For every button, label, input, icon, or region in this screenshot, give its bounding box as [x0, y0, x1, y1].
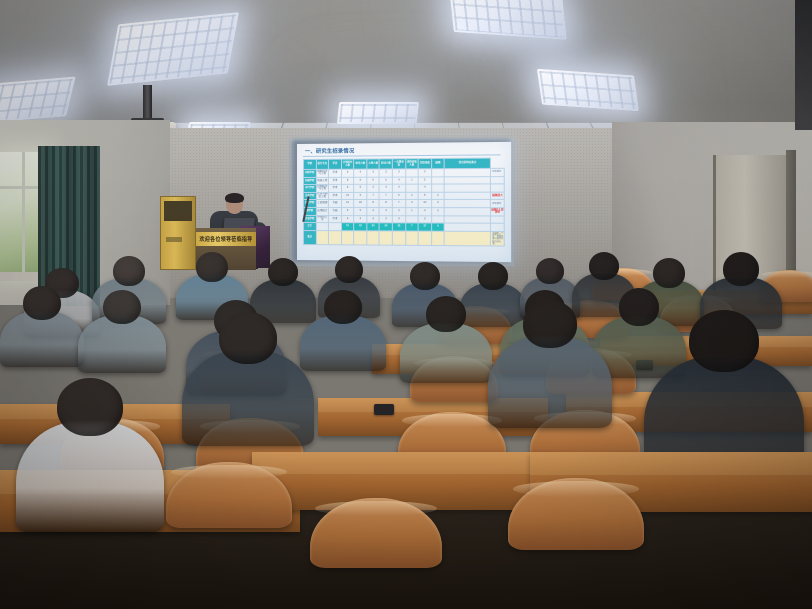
slide-cell — [431, 169, 444, 177]
slide-cell — [444, 184, 490, 192]
projection-screen: 一、研究生招录情况 学院招生专业学历计划招生人数报考人数上线人数复试人数一志愿录… — [297, 142, 511, 262]
audience-shoulders — [182, 350, 314, 446]
slide-cell: 学术 — [329, 169, 342, 177]
slide-cell: 1 — [405, 208, 418, 216]
slide-cell — [431, 215, 444, 223]
slide-table: 学院招生专业学历计划招生人数报考人数上线人数复试人数一志愿录取调剂录取人数实际录… — [303, 157, 505, 246]
classroom-photo: 一、研究生招录情况 学院招生专业学历计划招生人数报考人数上线人数复试人数一志愿录… — [0, 0, 812, 609]
slide-cell: 外国语言学 — [316, 215, 329, 223]
slide-cell: 3 — [380, 215, 393, 223]
slide-cell: 3 — [418, 215, 431, 223]
slide-row-note: 缺额较大 — [491, 192, 505, 200]
slide-row-note — [491, 216, 505, 224]
slide-cell: 2 — [431, 208, 444, 216]
audience-shoulders — [16, 421, 164, 533]
audience-member — [400, 296, 492, 392]
slide-content: 一、研究生招录情况 学院招生专业学历计划招生人数报考人数上线人数复试人数一志愿录… — [297, 142, 511, 262]
slide-cell: 3 — [405, 200, 418, 208]
slide-cell — [431, 231, 444, 246]
slide-cell: 1 — [405, 177, 418, 185]
audience-member — [488, 300, 612, 440]
audience-head — [113, 256, 145, 286]
slide-cell: 42 — [354, 223, 367, 231]
slide-cell — [329, 223, 342, 231]
slide-row-label: 备注 — [303, 230, 316, 244]
slide-cell: 34 — [380, 223, 393, 231]
slide-cell: 6 — [354, 177, 367, 185]
audience-head — [324, 290, 362, 324]
chair-front-3[interactable] — [508, 478, 644, 550]
cabinet-panel — [164, 201, 192, 221]
slide-cell: 4 — [418, 184, 431, 192]
slide-col-10: 缺额 — [431, 158, 444, 168]
audience-head — [196, 252, 228, 282]
slide-cell: 4 — [418, 208, 431, 216]
slide-cell: 5 — [354, 184, 367, 192]
slide-cell — [405, 231, 418, 245]
slide-table-row: 经管学院工商管理专硕12108873102招生情况 — [303, 200, 504, 208]
audience-head — [653, 258, 685, 288]
desk-surface — [530, 452, 812, 475]
audience-member — [182, 312, 314, 460]
slide-cell — [392, 231, 405, 245]
slide-cell: 应用统计 — [316, 207, 329, 215]
slide-cell — [341, 230, 354, 244]
slide-row-note — [491, 184, 505, 192]
chair-front-2[interactable] — [310, 498, 442, 568]
slide-row-note — [491, 223, 505, 231]
slide-cell — [444, 215, 490, 223]
slide-cell: 7 — [380, 192, 393, 200]
presenter-hair — [225, 193, 244, 203]
audience-head — [219, 312, 277, 364]
slide-cell — [431, 176, 444, 184]
slide-cell: 9 — [354, 192, 367, 200]
slide-cell — [444, 231, 490, 246]
slide-col-0: 学院 — [303, 159, 316, 169]
slide-cell: 51 — [341, 223, 354, 231]
slide-cell — [431, 184, 444, 192]
slide-cell: 37 — [418, 223, 431, 231]
slide-col-5: 上线人数 — [367, 159, 380, 169]
slide-cell — [316, 223, 329, 231]
audience-member — [78, 290, 166, 382]
slide-cell: 信息与通信工程 — [316, 192, 329, 200]
audience-head — [268, 258, 298, 286]
slide-cell: 34 — [367, 223, 380, 231]
slide-row-note — [491, 176, 505, 184]
slide-col-7: 一志愿录取 — [392, 159, 405, 169]
slide-cell — [405, 169, 418, 177]
slide-cell: 3 — [354, 215, 367, 223]
slide-cell: 8 — [341, 177, 354, 185]
slide-cell — [444, 192, 490, 200]
slide-col-9: 实际录取 — [418, 158, 431, 168]
slide-row-note: 学校统一安排复试工作，录取结果以研究生院公布为准。 — [491, 231, 505, 246]
slide-cell — [444, 223, 490, 231]
slide-cell: 5 — [341, 185, 354, 193]
audience-head — [689, 310, 759, 372]
slide-col-2: 学历 — [329, 159, 342, 169]
slide-table-row: 备注学校统一安排复试工作，录取结果以研究生院公布为准。 — [303, 230, 504, 246]
slide-cell: 7 — [367, 192, 380, 200]
podium-sign: 欢迎各位领导莅临指导 — [196, 232, 256, 246]
audience-head — [335, 256, 363, 283]
slide-row-label: 合计 — [303, 223, 316, 231]
slide-cell — [316, 230, 329, 244]
ceiling-light-5 — [337, 102, 419, 124]
slide-cell: 5 — [380, 177, 393, 185]
slide-cell: 学术 — [329, 185, 342, 193]
slide-cell: 12 — [341, 200, 354, 208]
slide-cell: 3 — [367, 215, 380, 223]
slide-cell: 7 — [405, 223, 418, 231]
window-mullion-v — [22, 152, 25, 274]
phone-on-desk-1[interactable] — [374, 404, 394, 415]
slide-cell: 2 — [405, 192, 418, 200]
slide-row-label: 材料学院 — [303, 169, 316, 177]
slide-row-label: 外语学院 — [303, 215, 316, 223]
desk-surface — [252, 452, 552, 474]
ceiling-light-4 — [537, 69, 639, 112]
slide-cell: 学术 — [329, 192, 342, 200]
audience-member — [16, 378, 164, 548]
audience-head — [536, 258, 564, 284]
slide-row-note: 招生情况 — [491, 168, 505, 176]
slide-cell: 专硕 — [329, 200, 342, 208]
slide-row-note: 招生情况 — [491, 200, 505, 208]
slide-col-6: 复试人数 — [380, 159, 393, 169]
slide-cell — [444, 176, 490, 184]
slide-cell — [444, 208, 490, 216]
slide-cell — [444, 168, 490, 176]
slide-row-label: 机械学院 — [303, 177, 316, 185]
slide-row-note: 缺额2人需调剂 — [491, 208, 505, 216]
slide-cell: 4 — [392, 184, 405, 192]
slide-cell — [354, 231, 367, 245]
slide-cell: 4 — [367, 208, 380, 216]
slide-cell: 30 — [392, 223, 405, 231]
slide-cell: 3 — [380, 169, 393, 177]
podium-sign-text: 欢迎各位领导莅临指导 — [199, 235, 252, 243]
slide-cell: 3 — [392, 169, 405, 177]
slide-cell: 4 — [380, 208, 393, 216]
slide-cell: 6 — [341, 208, 354, 216]
audience-head — [723, 252, 759, 286]
slide-cell: 6 — [341, 169, 354, 177]
slide-cell: 机械工程 — [316, 177, 329, 185]
slide-cell: 专硕 — [329, 207, 342, 215]
slide-cell: 6 — [431, 223, 444, 231]
slide-cell: 工商管理 — [316, 200, 329, 208]
audience-member — [0, 286, 84, 376]
slide-row-label: 电气学院 — [303, 185, 316, 193]
slide-cell: 4 — [354, 169, 367, 177]
slide-cell: 2 — [431, 192, 444, 200]
audience-head — [523, 300, 577, 348]
slide-cell — [380, 231, 393, 245]
slide-cell: 4 — [341, 215, 354, 223]
slide-col-1: 招生专业 — [316, 159, 329, 169]
slide-cell: 7 — [392, 200, 405, 208]
slide-cell — [418, 231, 431, 246]
slide-cell: 10 — [341, 192, 354, 200]
audience-head — [426, 296, 466, 332]
chair-front-1[interactable] — [166, 462, 292, 528]
slide-cell: 10 — [418, 200, 431, 208]
slide-cell: 5 — [367, 177, 380, 185]
slide-cell: 学术 — [329, 177, 342, 185]
slide-cell: 6 — [392, 192, 405, 200]
slide-cell — [405, 215, 418, 223]
slide-cell: 3 — [392, 215, 405, 223]
audience-head — [23, 286, 61, 320]
slide-cell: 8 — [418, 192, 431, 200]
slide-cell — [329, 230, 342, 244]
slide-col-8: 调剂录取人数 — [405, 159, 418, 169]
audience-head — [589, 252, 619, 280]
slide-title: 一、研究生招录情况 — [305, 147, 355, 154]
audience-head — [478, 262, 508, 290]
slide-cell: 3 — [392, 208, 405, 216]
slide-cell: 材料科学与工程 — [316, 169, 329, 177]
slide-row-label: 信息学院 — [303, 192, 316, 200]
slide-cell: 3 — [418, 169, 431, 177]
slide-cell: 2 — [431, 200, 444, 208]
slide-col-11: 情况说明及备注 — [444, 158, 490, 169]
slide-cell: 5 — [354, 208, 367, 216]
slide-cell: 10 — [354, 200, 367, 208]
slide-cell: 3 — [367, 169, 380, 177]
slide-cell: 4 — [367, 184, 380, 192]
slide-cell — [405, 184, 418, 192]
slide-cell — [444, 200, 490, 208]
slide-cell: 8 — [367, 200, 380, 208]
right-dark-column — [795, 0, 812, 130]
audience-head — [103, 290, 141, 324]
audience-head — [57, 378, 123, 436]
slide-cell: 8 — [380, 200, 393, 208]
slide-cell: 控制科学与工程 — [316, 185, 329, 193]
audience-shoulders — [488, 336, 612, 428]
slide-col-4: 报考人数 — [354, 159, 367, 169]
slide-col-3: 计划招生人数 — [341, 159, 354, 169]
cabinet-label — [166, 237, 182, 242]
slide-cell — [367, 231, 380, 245]
slide-cell: 学术 — [329, 215, 342, 223]
slide-cell: 4 — [392, 177, 405, 185]
audience-head — [410, 262, 440, 290]
slide-cell: 5 — [418, 177, 431, 185]
slide-cell: 4 — [380, 184, 393, 192]
slide-table-row: 信息学院信息与通信工程学术109776282缺额较大 — [303, 192, 504, 200]
